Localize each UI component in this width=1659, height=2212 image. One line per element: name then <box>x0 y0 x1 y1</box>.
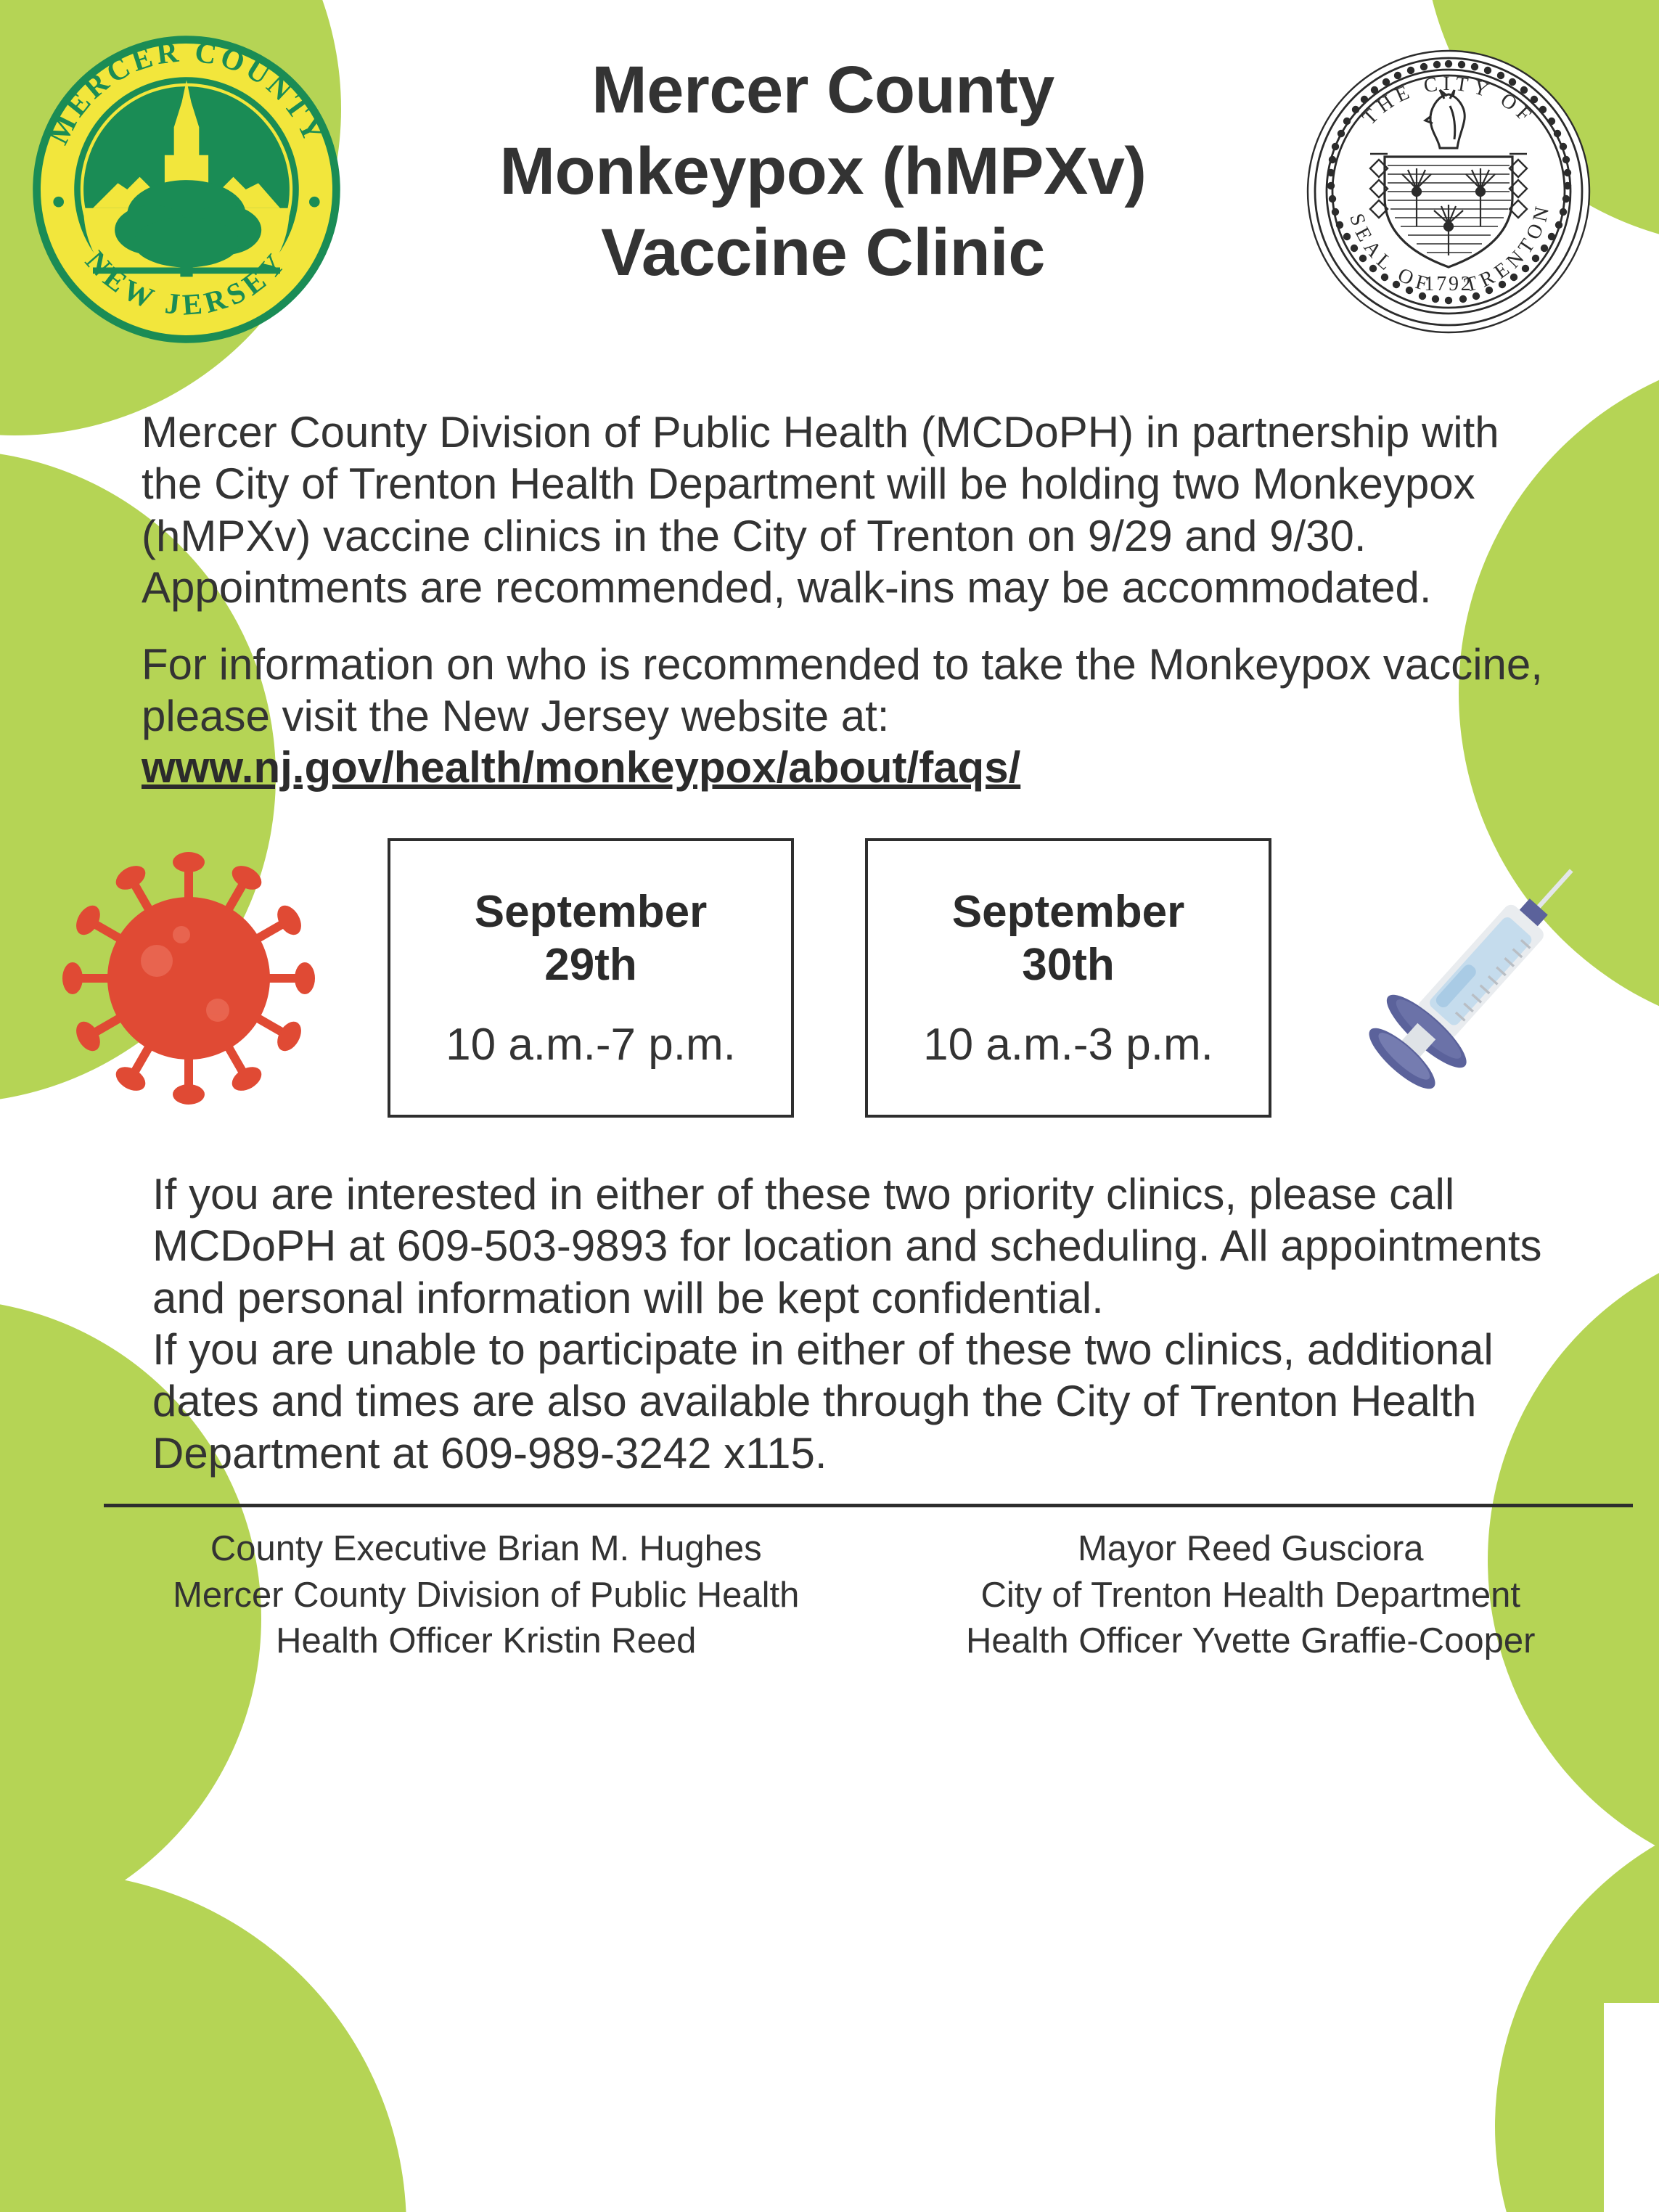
footer-right-line-3: Health Officer Yvette Graffie-Cooper <box>869 1618 1634 1665</box>
clinic-date-box-1: September 29th 10 a.m.-7 p.m. <box>388 838 794 1118</box>
seal-year-text: 1792 <box>1424 273 1472 295</box>
footer-left-line-3: Health Officer Kristin Reed <box>104 1618 869 1665</box>
green-blob-right-4 <box>1495 1800 1659 2212</box>
contact-text-block: If you are interested in either of these… <box>0 1168 1659 1479</box>
virus-icon <box>44 833 334 1123</box>
clinic-2-hours: 10 a.m.-3 p.m. <box>923 1019 1213 1070</box>
title-line-3: Vaccine Clinic <box>343 212 1303 293</box>
paragraph-alternate-dates: If you are unable to participate in eith… <box>152 1324 1550 1479</box>
footer-left-line-2: Mercer County Division of Public Health <box>104 1573 869 1619</box>
city-of-trenton-seal-icon: THE CITY OF SEAL OF TRENTON <box>1303 46 1594 337</box>
flyer-page: MERCER COUNTY NEW JERSEY Mercer County M… <box>0 0 1659 2212</box>
clinic-2-month: September <box>952 885 1184 938</box>
clinic-date-boxes: September 29th 10 a.m.-7 p.m. September … <box>388 838 1271 1118</box>
flyer-footer: County Executive Brian M. Hughes Mercer … <box>0 1504 1659 1665</box>
footer-mask-right <box>1604 2003 1659 2212</box>
syringe-icon <box>1325 822 1630 1134</box>
nj-health-link[interactable]: www.nj.gov/health/monkeypox/about/faqs/ <box>142 743 1020 792</box>
flyer-header: MERCER COUNTY NEW JERSEY Mercer County M… <box>0 0 1659 406</box>
clinic-2-date: September 30th <box>952 885 1184 991</box>
mercer-county-seal-icon: MERCER COUNTY NEW JERSEY <box>30 33 343 345</box>
clinic-1-day: 29th <box>475 938 707 991</box>
clinic-dates-row: September 29th 10 a.m.-7 p.m. September … <box>0 819 1659 1138</box>
footer-left-line-1: County Executive Brian M. Hughes <box>104 1526 869 1573</box>
footer-right-line-2: City of Trenton Health Department <box>869 1573 1634 1619</box>
title-line-2: Monkeypox (hMPXv) <box>343 131 1303 212</box>
clinic-1-month: September <box>475 885 707 938</box>
paragraph-priority-clinics: If you are interested in either of these… <box>152 1168 1550 1324</box>
clinic-date-box-2: September 30th 10 a.m.-3 p.m. <box>865 838 1271 1118</box>
paragraph-info-text: For information on who is recommended to… <box>142 640 1543 740</box>
clinic-1-hours: 10 a.m.-7 p.m. <box>446 1019 736 1070</box>
footer-column-city: Mayor Reed Gusciora City of Trenton Heal… <box>869 1526 1634 1665</box>
paragraph-intro: Mercer County Division of Public Health … <box>142 406 1550 614</box>
title-line-1: Mercer County <box>343 49 1303 131</box>
paragraph-info: For information on who is recommended to… <box>142 639 1550 794</box>
footer-right-line-1: Mayor Reed Gusciora <box>869 1526 1634 1573</box>
intro-text-block: Mercer County Division of Public Health … <box>0 406 1659 794</box>
clinic-1-date: September 29th <box>475 885 707 991</box>
page-title: Mercer County Monkeypox (hMPXv) Vaccine … <box>343 20 1303 294</box>
footer-column-county: County Executive Brian M. Hughes Mercer … <box>104 1526 869 1665</box>
green-blob-left-4 <box>0 1872 406 2212</box>
clinic-2-day: 30th <box>952 938 1184 991</box>
